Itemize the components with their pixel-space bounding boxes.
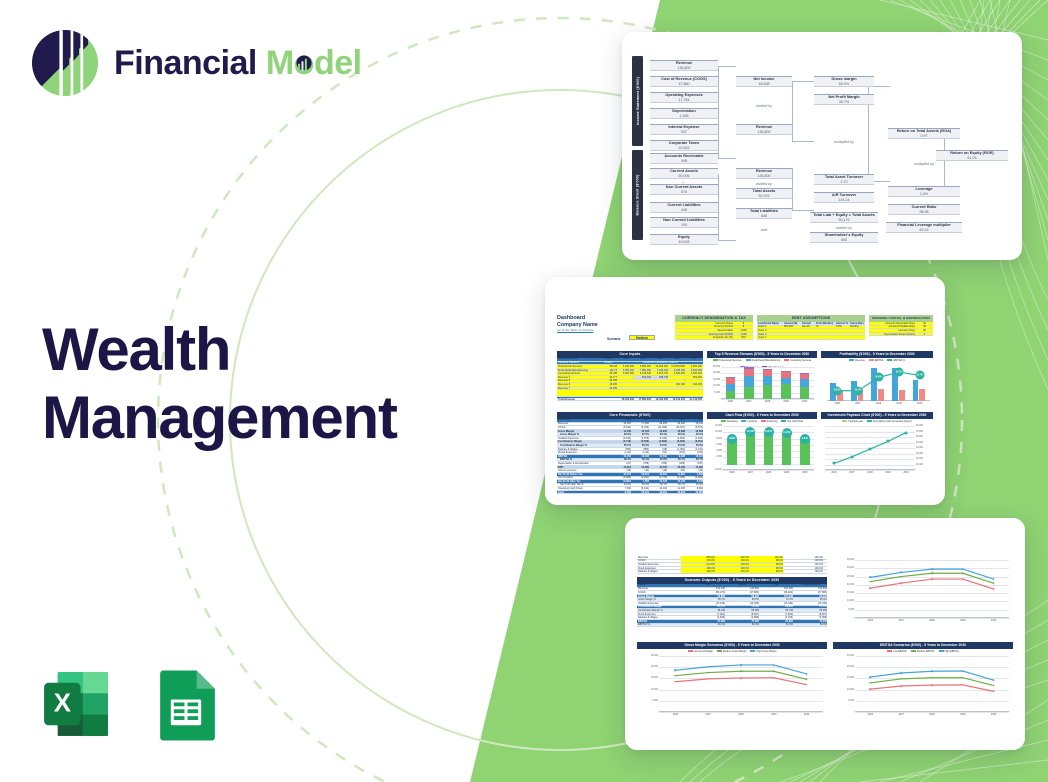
- chart-legend: Low Gross Margin Medium Gross Margin Hig…: [637, 649, 827, 654]
- x-tick-label: 2029: [784, 471, 789, 474]
- data-point: [773, 664, 775, 666]
- x-tick-label: 2027: [855, 402, 860, 405]
- x-tick-label: 2026: [868, 713, 873, 716]
- cash-flow-bubble: 8,020: [800, 434, 810, 444]
- file-format-icons: X: [38, 666, 224, 742]
- chart-investment-payback: Investment Payback Chart ($'000) - 5 Yea…: [821, 412, 933, 484]
- node-total-asset-turnover: Total Asset Turnover 2.70: [814, 174, 874, 185]
- stacked-bar-segment: [781, 384, 790, 399]
- table-row: Salaries & Wages105.0%100.0%98.0%100.0%: [637, 570, 827, 574]
- x-tick-label: 2029: [896, 402, 901, 405]
- chart-ebitda-scenarios: EBITDA Scenarios ($'000) - 5 Years to De…: [833, 642, 1013, 726]
- x-tick-label: 2028: [766, 471, 771, 474]
- x-tick-label: 2027: [899, 713, 904, 716]
- brand-word-model-del: del: [314, 44, 362, 82]
- data-point: [900, 672, 902, 674]
- y-tick-label: 35,000: [847, 559, 854, 561]
- connector: [792, 141, 814, 142]
- chart-legend: Low EBITDA Medium EBITDA High EBITDA: [833, 649, 1013, 654]
- chart-plot-area: 25,00020,00015,00010,0005,000-2026202720…: [855, 656, 1009, 712]
- scenario-label: Scenario: [607, 337, 620, 341]
- legend-item: Low Gross Margin: [688, 650, 713, 653]
- node-operating-expenses: Operating Expenses 17,754: [650, 92, 718, 103]
- legend-item: Net Cash Flow: [781, 420, 803, 423]
- x-tick-label: 2028: [738, 713, 743, 716]
- brand-word-financial: Financial: [114, 44, 257, 82]
- connector: [718, 66, 736, 67]
- stacked-bar-segment: [781, 378, 790, 385]
- y-tick-label: 25,000: [847, 576, 854, 578]
- node-net-profit-margin: Net Profit Margin 35.7%: [814, 94, 874, 105]
- y-tick-label: 10,000: [916, 464, 923, 466]
- x-tick-label: 2027: [746, 400, 751, 403]
- x-tick-label: 2027: [706, 713, 711, 716]
- x-tick-label: 2029: [960, 619, 965, 622]
- brand-word-model-m: M: [266, 44, 294, 82]
- node-corporate-taxes: Corporate Taxes 20,526: [650, 140, 718, 151]
- chart-plot-area: 25,00020,00015,00010,0005,000-2026202720…: [721, 367, 814, 399]
- operator-divided-by-2: divided by: [736, 182, 792, 186]
- legend-item: Medium EBITDA: [911, 650, 935, 653]
- dupont-analysis-diagram: Income Statement ($'000) Balance Sheet (…: [632, 56, 1012, 241]
- chart-plot-area: 12,00010,0008,0006,0004,0002,000-(2,000)…: [723, 426, 814, 470]
- legend-item: Revenue: [849, 359, 865, 362]
- legend-item: Cumulative Cash Generated (Spent): [867, 420, 912, 423]
- legend-item: EBITDA %: [887, 359, 904, 362]
- node-non-current-assets: Non Current Assets 570: [650, 184, 718, 195]
- chart-legend: Revenue EBITDA EBITDA %: [821, 358, 933, 363]
- screenshot-card-scenarios[interactable]: Revenue(85.0)%100.0%110.0%100.0% COGS105…: [625, 518, 1025, 750]
- svg-text:X: X: [54, 690, 71, 718]
- x-tick-label: 2029: [771, 713, 776, 716]
- scenario-analysis-sheet: Revenue(85.0)%100.0%110.0%100.0% COGS105…: [637, 556, 1013, 726]
- y-tick-label: 25,000: [651, 655, 658, 657]
- node-revenue: Revenue 136,800: [650, 60, 718, 71]
- legend-item: EBITDA: [869, 359, 884, 362]
- y-tick-label: 15,000: [847, 677, 854, 679]
- band-income-statement: Income Statement ($'000): [632, 56, 643, 146]
- x-tick-label: 2029: [783, 400, 788, 403]
- stacked-bar-segment: [744, 369, 753, 377]
- connector: [792, 81, 793, 141]
- node-financial-leverage-multiplier: Financial Leverage multiplier 63.22: [886, 222, 962, 233]
- legend-item: High Gross Margin: [750, 650, 776, 653]
- table-core-financials: Core Financials ($'000) Description 2026…: [557, 412, 703, 494]
- stacked-bar-segment: [800, 379, 809, 386]
- y-tick-label: 15,000: [651, 677, 658, 679]
- chart-plot-area: 2026202720282029203080,00070,00060,00050…: [825, 426, 915, 470]
- table-row-blank: [557, 390, 703, 397]
- node-total-assets: Total Assets 50,576: [736, 188, 792, 199]
- cash-flow-bubble: 10,209: [782, 428, 792, 438]
- google-sheets-icon[interactable]: [148, 666, 224, 742]
- table-scenario-assumptions: Revenue(85.0)%100.0%110.0%100.0% COGS105…: [637, 556, 827, 574]
- circle-bar-chart-logo-icon: [30, 28, 100, 98]
- y-tick-label: 15,000: [847, 592, 854, 594]
- legend-item: Medium Gross Margin: [717, 650, 747, 653]
- data-point: [675, 670, 677, 672]
- node-roe: Return on Equity (ROE) 61.03: [936, 150, 1008, 161]
- dashboard-title: Dashboard Company Name: [557, 315, 598, 329]
- connector: [718, 174, 719, 240]
- node-current-ratio: Current Ratio 58.98: [888, 204, 960, 215]
- legend-item: Financing: [761, 420, 777, 423]
- chart-legend: Operating Investing Financing Net Cash F…: [707, 419, 817, 424]
- x-tick-label: 2030: [903, 471, 908, 474]
- screenshot-card-dupont[interactable]: Income Statement ($'000) Balance Sheet (…: [622, 32, 1022, 260]
- financial-dashboard: Dashboard Company Name Go to the Table o…: [557, 315, 933, 487]
- stacked-bar-segment: [726, 378, 735, 384]
- data-point: [993, 679, 995, 681]
- x-tick-label: 2027: [748, 471, 753, 474]
- stacked-bar-segment: [726, 384, 735, 391]
- core-financials-rows: Revenue16,30017,56029,25029,22019,110COG…: [557, 423, 703, 495]
- microsoft-excel-icon[interactable]: X: [38, 666, 114, 742]
- legend-item: High EBITDA: [939, 650, 959, 653]
- dashboard-title-line1: Dashboard: [557, 315, 585, 321]
- table-row: Corporate Tax (%)30%: [675, 336, 753, 340]
- legend-item: Investing: [741, 420, 757, 423]
- node-roa: Return on Total Assets (ROA) 0.97: [888, 128, 960, 139]
- table-row: Cash8,48410,10110,30110,34410,084: [557, 491, 703, 495]
- operator-add: Add: [736, 228, 792, 232]
- y-tick-label: 15,000: [713, 379, 720, 381]
- chart-legend: Payback year Cumulative Cash Generated (…: [821, 419, 933, 424]
- y-tick-label: 10,000: [651, 689, 658, 691]
- stacked-bar-segment: [763, 369, 772, 370]
- panel-currency-denomination: CURRENCY DENOMINATION & TAX Currency Nam…: [675, 315, 753, 340]
- node-shareholders-equity: Shareholder's Equity 800: [810, 232, 878, 243]
- node-total-liab-equity: Total Liab + Equity = Total Assets 50,17…: [810, 212, 878, 223]
- stacked-bar-segment: [744, 367, 753, 368]
- band-balance-sheet: Balance Sheet ($'000): [632, 150, 643, 240]
- chart-title: Investment Payback Chart ($'000) - 5 Yea…: [821, 412, 933, 419]
- cash-flow-bubble: 10,239: [745, 427, 755, 437]
- chart-top-revenue-streams: Top 5 Revenue Streams ($'000) - 5 Years …: [707, 351, 817, 408]
- x-tick-label: 2026: [835, 402, 840, 405]
- chart-plot-area: 2026202720282029203016,30010,21017,56010…: [827, 365, 930, 401]
- chart-title: Top 5 Revenue Streams ($'000) - 5 Years …: [707, 351, 817, 358]
- x-tick-label: 2028: [876, 402, 881, 405]
- y-tick-label: 2,000: [716, 456, 722, 458]
- y-tick-label: -: [719, 398, 720, 400]
- y-tick-label: 60,000: [916, 436, 923, 438]
- y-tick-label: 10,000: [847, 600, 854, 602]
- data-point-marker: [905, 431, 908, 434]
- node-accounts-receivable: Accounts Receivable 948: [650, 153, 718, 164]
- data-point: [962, 670, 964, 672]
- y-tick-label: 20,000: [713, 372, 720, 374]
- stacked-bar-segment: [763, 376, 772, 385]
- node-current-assets: Current Assets 50,006: [650, 168, 718, 179]
- node-interest-expense: Interest Expense 537: [650, 124, 718, 135]
- legend-item: Payback year: [842, 420, 862, 423]
- data-point: [993, 578, 995, 580]
- stacked-bar-segment: [726, 391, 735, 399]
- page-title: Wealth Management: [42, 316, 397, 452]
- dashboard-toc-link[interactable]: Go to the Table of Contents: [557, 328, 593, 332]
- operator-multiplied-by-2: multiplied by: [888, 162, 960, 166]
- ebitda-percent-bubble: 39.1%: [853, 386, 862, 395]
- y-tick-label: -: [853, 617, 854, 619]
- x-tick-label: 2028: [929, 619, 934, 622]
- x-tick-label: 2028: [765, 400, 770, 403]
- y-tick-label: 10,000: [715, 431, 722, 433]
- y-tick-label: 40,000: [916, 447, 923, 449]
- y-tick-label: 6,000: [716, 444, 722, 446]
- chart-plot-area: 25,00020,00015,00010,0005,000-2026202720…: [659, 656, 823, 712]
- chart-plot-area: 35,00030,00025,00020,00015,00010,0005,00…: [855, 560, 1009, 618]
- ebitda-percent-bubble: 39.2%: [833, 386, 842, 395]
- table-row: EBITDA %40.1%52.0%61.0%52.0%: [637, 624, 827, 628]
- x-tick-label: 2026: [868, 619, 873, 622]
- stacked-bar-segment: [763, 385, 772, 399]
- y-tick-label: 8,000: [716, 438, 722, 440]
- x-tick-label: 2030: [917, 402, 922, 405]
- table-core-inputs: Core Inputs Revenue Streams Growth 2026 …: [557, 351, 703, 401]
- x-axis: [723, 469, 814, 470]
- x-tick-label: 2026: [729, 471, 734, 474]
- left-content-column: Financial Model Wealth Management X: [0, 0, 470, 782]
- node-depreciation: Depreciation 1,265: [650, 108, 718, 119]
- y-tick-label: 12,000: [715, 425, 722, 427]
- node-revenue-2: Revenue 136,800: [736, 124, 792, 135]
- legend-item: Consulting Services: [784, 359, 811, 362]
- data-point: [740, 664, 742, 666]
- connector: [718, 240, 736, 241]
- ebitda-percent-bubble: 52.7%: [915, 371, 924, 380]
- brand-word-model-o: o: [294, 46, 314, 80]
- table-scenario-outputs: Scenario Outputs ($'000) - 5 Years to De…: [637, 577, 827, 627]
- data-point: [931, 670, 933, 672]
- data-point: [707, 666, 709, 668]
- chart-gross-margin-scenarios: Gross Margin Scenarios ($'000) - 5 Years…: [637, 642, 827, 726]
- legend-item: Low EBITDA: [887, 650, 907, 653]
- chart-profitability: Profitability ($'000) - 5 Years to Decem…: [821, 351, 933, 408]
- brand-wordmark: Financial Model: [114, 46, 362, 80]
- stacked-bar-segment: [744, 387, 753, 399]
- data-point-marker: [887, 440, 890, 443]
- operator-multiplied-by: multiplied by: [814, 140, 874, 144]
- x-tick-label: 2028: [929, 713, 934, 716]
- dashboard-title-line2: Company Name: [557, 322, 598, 328]
- y-tick-label: 10,000: [713, 385, 720, 387]
- x-tick-label: 2030: [802, 471, 807, 474]
- operator-divided-by-3: divided by: [810, 226, 878, 230]
- connector: [718, 158, 736, 159]
- currency-rows: Currency Name$ Currency Symbol$ Denomina…: [675, 322, 753, 340]
- y-tick-label: 20,000: [847, 584, 854, 586]
- connector: [792, 81, 814, 82]
- x-tick-label: 2028: [867, 471, 872, 474]
- y-tick-label: 5,000: [848, 609, 854, 611]
- table-total-row: Total Revenue 16,620,000 17,860,000 19,4…: [557, 397, 703, 401]
- y-tick-label: 50,000: [916, 442, 923, 444]
- node-current-liabilities: Current Liabilities 448: [650, 202, 718, 213]
- x-tick-label: 2030: [802, 400, 807, 403]
- x-tick-label: 2027: [849, 471, 854, 474]
- y-tick-label: 20,000: [916, 458, 923, 460]
- x-tick-label: 2030: [991, 619, 996, 622]
- y-tick-label: 25,000: [847, 655, 854, 657]
- panel-key-metrics: KEY METRICS: [887, 315, 933, 322]
- panel-debt-assumptions: DEBT ASSUMPTIONS Loan/Grant Name Amount …: [757, 315, 865, 340]
- page-title-line-1: Wealth: [42, 316, 397, 384]
- node-cogs: Cost of Revenue (COGS) 47,880: [650, 76, 718, 87]
- stacked-bar-segment: [744, 376, 753, 386]
- node-ar-turnover: A/R Turnover 144.24: [814, 192, 874, 203]
- cash-flow-bubble: 10,270: [764, 427, 774, 437]
- band-income-statement-label: Income Statement ($'000): [636, 77, 640, 125]
- connector: [792, 210, 814, 211]
- node-non-current-liabilities: Non Current Liabilities 100: [650, 217, 718, 228]
- connector: [792, 168, 793, 210]
- x-tick-label: 2026: [673, 713, 678, 716]
- y-tick-label: -: [657, 711, 658, 713]
- y-tick-label: 30,000: [916, 453, 923, 455]
- y-tick-label: 20,000: [651, 666, 658, 668]
- y-tick-label: 5,000: [652, 700, 658, 702]
- brand-logo[interactable]: Financial Model: [30, 28, 362, 98]
- y-tick-label: -: [853, 711, 854, 713]
- data-point-marker: [833, 462, 836, 465]
- y-tick-label: 20,000: [847, 666, 854, 668]
- cash-flow-bubble: 8,060: [727, 434, 737, 444]
- data-point: [870, 676, 872, 678]
- chart-revenue-scenarios: 35,00030,00025,00020,00015,00010,0005,00…: [833, 556, 1013, 626]
- stacked-bar-segment: [800, 374, 809, 380]
- node-gross-margin: Gross margin 65.0%: [814, 76, 874, 87]
- legend-item: Operating: [721, 420, 738, 423]
- legend-item: Small Retail Manufacturing: [746, 359, 781, 362]
- y-tick-label: 5,000: [848, 700, 854, 702]
- page-title-line-2: Management: [42, 384, 397, 452]
- data-point: [806, 673, 808, 675]
- node-equity: Equity 49,628: [650, 234, 718, 245]
- operator-divided-by: divided by: [736, 104, 792, 108]
- legend-item: Professional Services: [713, 359, 742, 362]
- data-point: [931, 568, 933, 570]
- connector: [718, 66, 719, 158]
- scenario-output-rows: Revenue131,130136,800150,480136,800COGS(…: [637, 588, 827, 628]
- y-tick-label: -: [916, 469, 917, 471]
- data-point: [962, 568, 964, 570]
- stacked-bar-segment: [800, 387, 809, 399]
- stacked-bar-segment: [781, 372, 790, 378]
- data-point-marker: [851, 455, 854, 458]
- node-net-income: Net Income 48,838: [736, 76, 792, 87]
- y-tick-label: 10,000: [847, 689, 854, 691]
- screenshot-card-dashboard[interactable]: Dashboard Company Name Go to the Table o…: [545, 277, 945, 505]
- x-tick-label: 2026: [728, 400, 733, 403]
- y-tick-label: 70,000: [916, 431, 923, 433]
- data-point-marker: [869, 448, 872, 451]
- table-row: Asset 4: [757, 336, 865, 340]
- x-tick-label: 2029: [960, 713, 965, 716]
- y-tick-label: 30,000: [847, 567, 854, 569]
- stacked-bar-segment: [763, 370, 772, 376]
- ebitda-percent-bubble: 50.9%: [874, 373, 883, 382]
- series-line: [855, 656, 1009, 712]
- y-tick-label: 25,000: [713, 366, 720, 368]
- x-tick-label: 2029: [885, 471, 890, 474]
- series-line: [827, 365, 930, 401]
- node-revenue-3: Revenue 136,800: [736, 168, 792, 179]
- mini-bar-chart-icon: [295, 55, 312, 72]
- table-row: Depreciation Period (Years)5: [869, 333, 933, 337]
- band-balance-sheet-label: Balance Sheet ($'000): [636, 174, 640, 215]
- x-tick-label: 2030: [804, 713, 809, 716]
- x-tick-label: 2030: [991, 713, 996, 716]
- node-leverage: Leverage 1.0%: [888, 186, 960, 197]
- y-tick-label: -: [721, 463, 722, 465]
- y-tick-label: 4,000: [716, 450, 722, 452]
- slide-canvas: Financial Model Wealth Management X: [0, 0, 1048, 782]
- node-total-liabilities: Total Liabilities 548: [736, 208, 792, 219]
- y-tick-label: 80,000: [916, 425, 923, 427]
- scenario-selector[interactable]: Medium: [629, 335, 655, 340]
- x-tick-label: 2026: [831, 471, 836, 474]
- stacked-bar-segment: [726, 377, 735, 378]
- chart-cash-flow: Cash Flow ($'000) - 5 Years to December …: [707, 412, 817, 484]
- ebitda-percent-bubble: 55.7%: [895, 368, 904, 377]
- data-point: [870, 577, 872, 579]
- y-tick-label: (2,000): [715, 469, 722, 471]
- y-tick-label: 5,000: [714, 392, 720, 394]
- x-tick-label: 2027: [899, 619, 904, 622]
- data-point: [900, 572, 902, 574]
